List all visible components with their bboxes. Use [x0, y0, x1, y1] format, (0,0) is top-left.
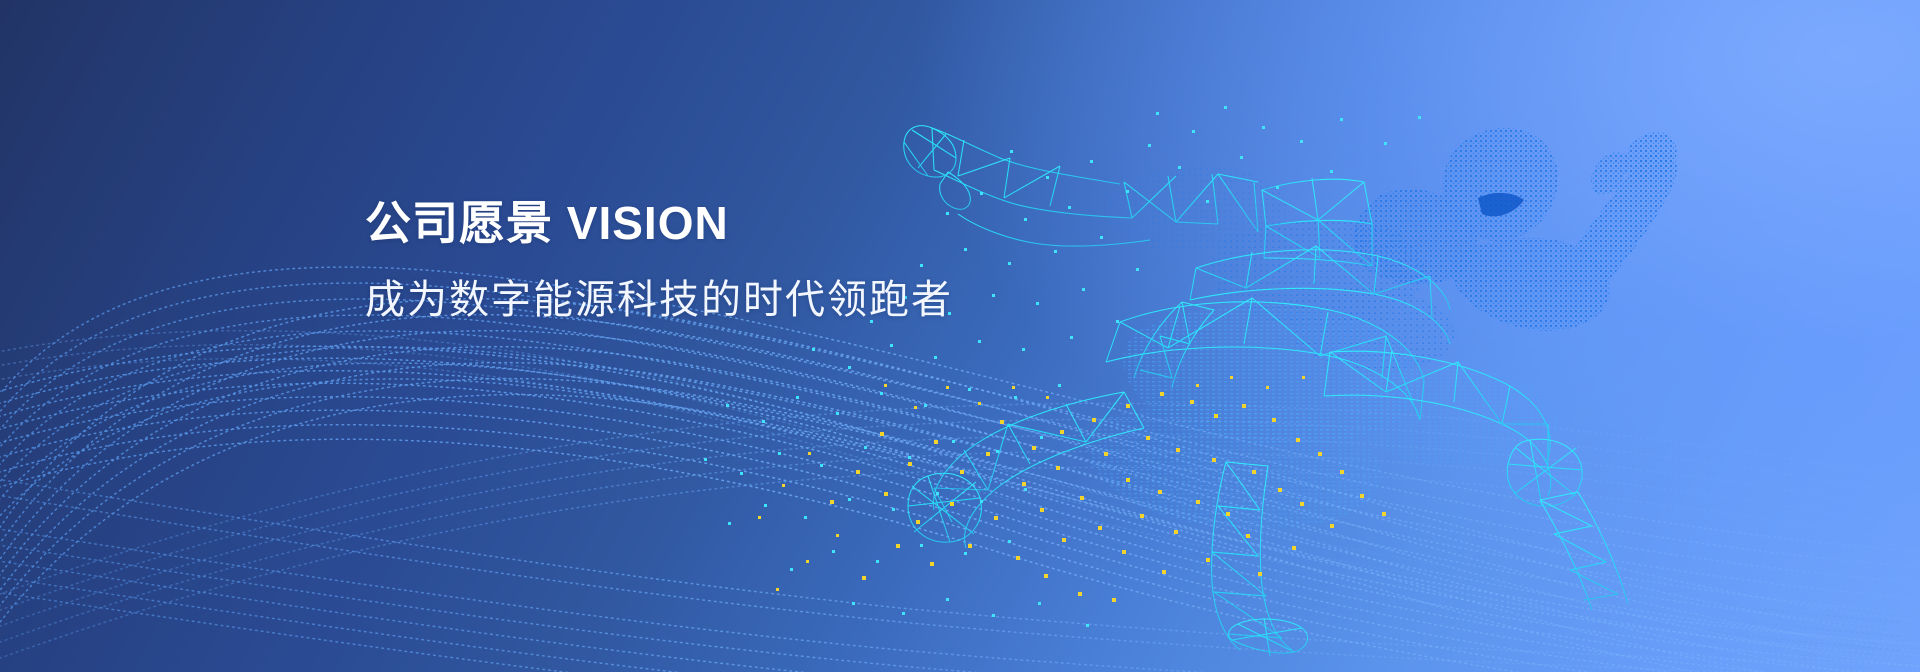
- runner-dash-texture: [1088, 304, 1558, 529]
- page-title: 公司愿景 VISION: [365, 196, 953, 250]
- banner-copy: 公司愿景 VISION 成为数字能源科技的时代领跑者: [365, 196, 953, 324]
- particle-wireframe-runner: [0, 0, 1920, 672]
- page-subtitle: 成为数字能源科技的时代领跑者: [365, 276, 953, 324]
- dispersing-particles-cyan: [704, 106, 1421, 627]
- runner-wireframe-mesh: [904, 126, 1628, 656]
- dotted-wave-lines: [0, 0, 1920, 672]
- vision-banner: 公司愿景 VISION 成为数字能源科技的时代领跑者: [0, 0, 1920, 672]
- dispersing-particles-yellow: [758, 376, 1386, 602]
- runner-stippled-body: [1106, 128, 1677, 370]
